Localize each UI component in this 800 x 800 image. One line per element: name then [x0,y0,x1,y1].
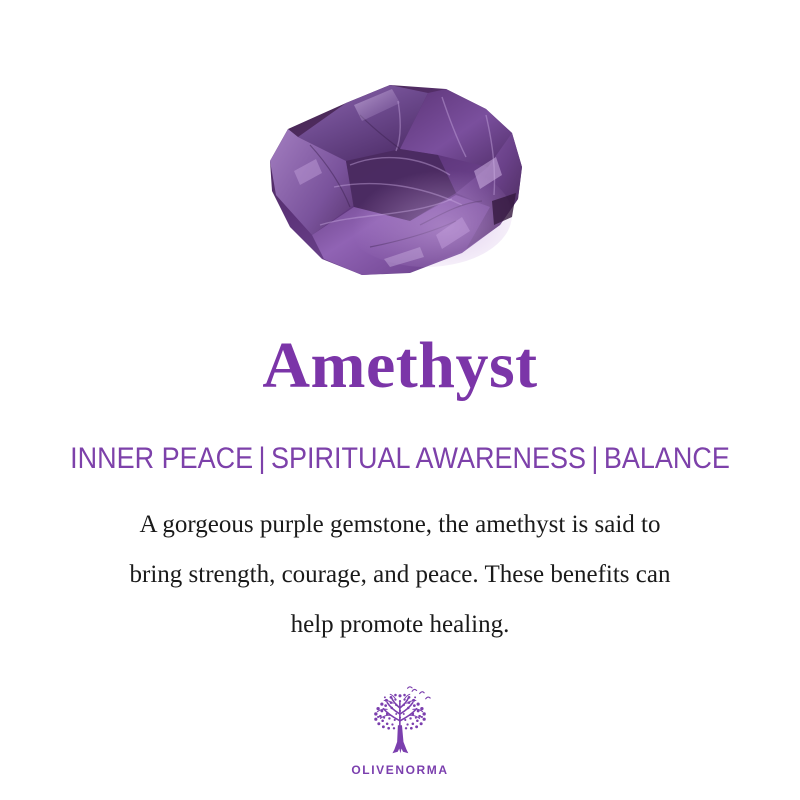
description-line-2: bring strength, courage, and peace. Thes… [60,550,740,600]
keyword-spiritual-awareness: SPIRITUAL AWARENESS [271,442,586,475]
keyword-list: INNER PEACE|SPIRITUAL AWARENESS|BALANCE [40,442,760,476]
keyword-separator-2: | [586,442,604,475]
gemstone-image [0,62,800,302]
description-line-1: A gorgeous purple gemstone, the amethyst… [60,500,740,550]
keyword-balance: BALANCE [604,442,730,475]
page-title: Amethyst [0,333,800,399]
product-card: Amethyst INNER PEACE|SPIRITUAL AWARENESS… [0,0,800,800]
brand-logo: OLIVENORMA [0,686,800,777]
amethyst-crystal-illustration [250,75,550,290]
keyword-inner-peace: INNER PEACE [70,442,253,475]
brand-name: OLIVENORMA [351,763,448,777]
tree-icon [362,686,438,760]
product-description: A gorgeous purple gemstone, the amethyst… [60,500,740,650]
keyword-separator-1: | [253,442,271,475]
description-line-3: help promote healing. [60,600,740,650]
